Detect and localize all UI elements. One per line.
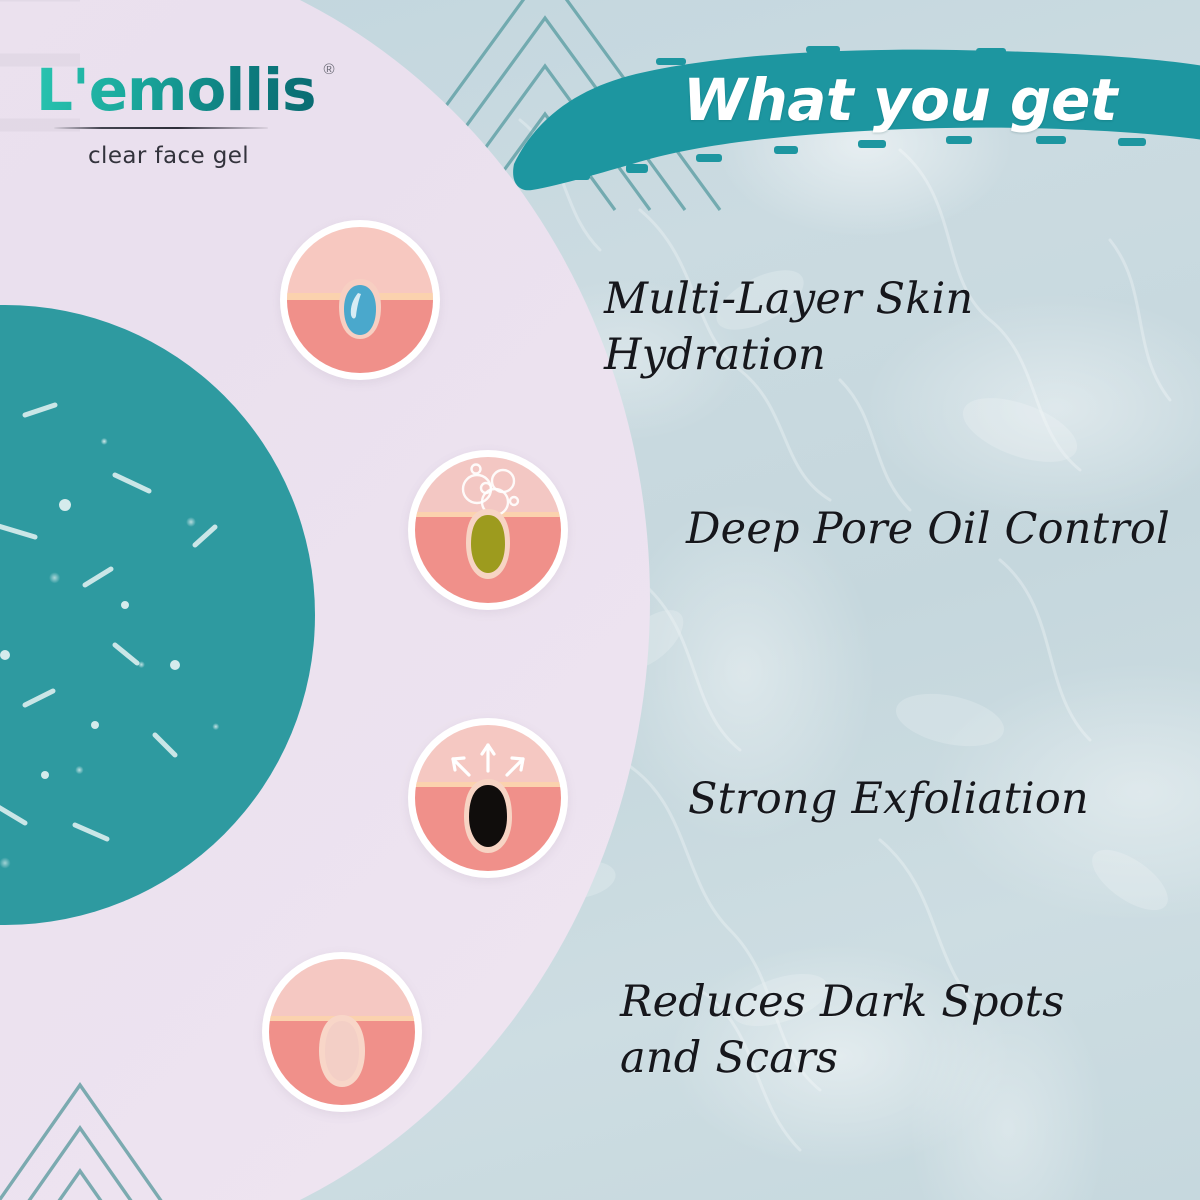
feature-label-reduces-dark-spots-and-scars: Reduces Dark Spots and Scars: [620, 975, 1065, 1087]
product-feature-poster: L'emollis ® clear face gel What you get: [0, 0, 1200, 1200]
feature-label-multi-layer-skin-hydration: Multi-Layer Skin Hydration: [604, 272, 1200, 384]
blackhead-extraction-icon: [415, 725, 561, 871]
feature-label-line-1: Reduces Dark Spots: [620, 975, 1065, 1031]
clear-pore-icon: [269, 959, 415, 1105]
brand-tagline: clear face gel: [88, 143, 316, 169]
registered-trademark-icon: ®: [323, 62, 333, 78]
feature-label-strong-exfoliation: Strong Exfoliation: [688, 772, 1089, 828]
feature-label-line-2: and Scars: [620, 1031, 1065, 1087]
feature-icon-reduces-dark-spots-and-scars: [262, 952, 422, 1112]
feature-icon-multi-layer-skin-hydration: [280, 220, 440, 380]
feature-icon-strong-exfoliation: [408, 718, 568, 878]
oil-plug-pore-icon: [415, 457, 561, 603]
chevron-outline-decoration-bottom-left: [0, 1060, 230, 1200]
water-droplet-pore-icon: [287, 227, 433, 373]
brand-name: L'emollis ®: [36, 60, 316, 121]
brand-logo: L'emollis ® clear face gel: [36, 60, 316, 169]
brand-name-text: L'emollis: [36, 56, 316, 124]
feature-icon-deep-pore-oil-control: [408, 450, 568, 610]
feature-label-deep-pore-oil-control: Deep Pore Oil Control: [686, 502, 1170, 558]
page-title: What you get: [640, 66, 1160, 134]
logo-divider: [54, 127, 268, 129]
